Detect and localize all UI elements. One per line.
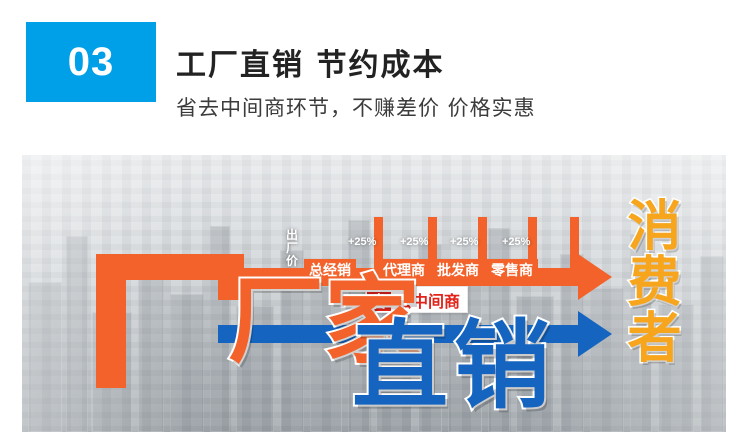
header-section: 03 工厂直销 节约成本 省去中间商环节，不赚差价 价格实惠 xyxy=(0,0,748,155)
markup-percent-1: +25% xyxy=(348,236,376,248)
chain-node-retailer: 零售商 xyxy=(486,259,538,283)
markup-percent-3: +25% xyxy=(450,236,478,248)
step-number-badge: 03 xyxy=(26,22,156,102)
factory-exit-price-label: 出厂价 xyxy=(286,229,302,268)
markup-percent-4: +25% xyxy=(502,236,530,248)
page-subtitle: 省去中间商环节，不赚差价 价格实惠 xyxy=(176,92,536,122)
chain-tick xyxy=(570,217,579,269)
illustration-panel: 出厂价 +25% +25% +25% +25% 总经销 代理商 批发商 零售商 … xyxy=(22,155,726,432)
headline-word-direct-sale: 直销 xyxy=(352,318,556,414)
distribution-arrow-head-icon xyxy=(578,254,612,300)
step-number-label: 03 xyxy=(68,40,115,85)
headline-word-consumer: 消费者 xyxy=(622,197,676,365)
markup-percent-2: +25% xyxy=(400,236,428,248)
direct-arrow-head-icon xyxy=(578,311,612,357)
chain-node-wholesaler: 批发商 xyxy=(432,259,484,283)
page-title: 工厂直销 节约成本 xyxy=(176,40,444,84)
